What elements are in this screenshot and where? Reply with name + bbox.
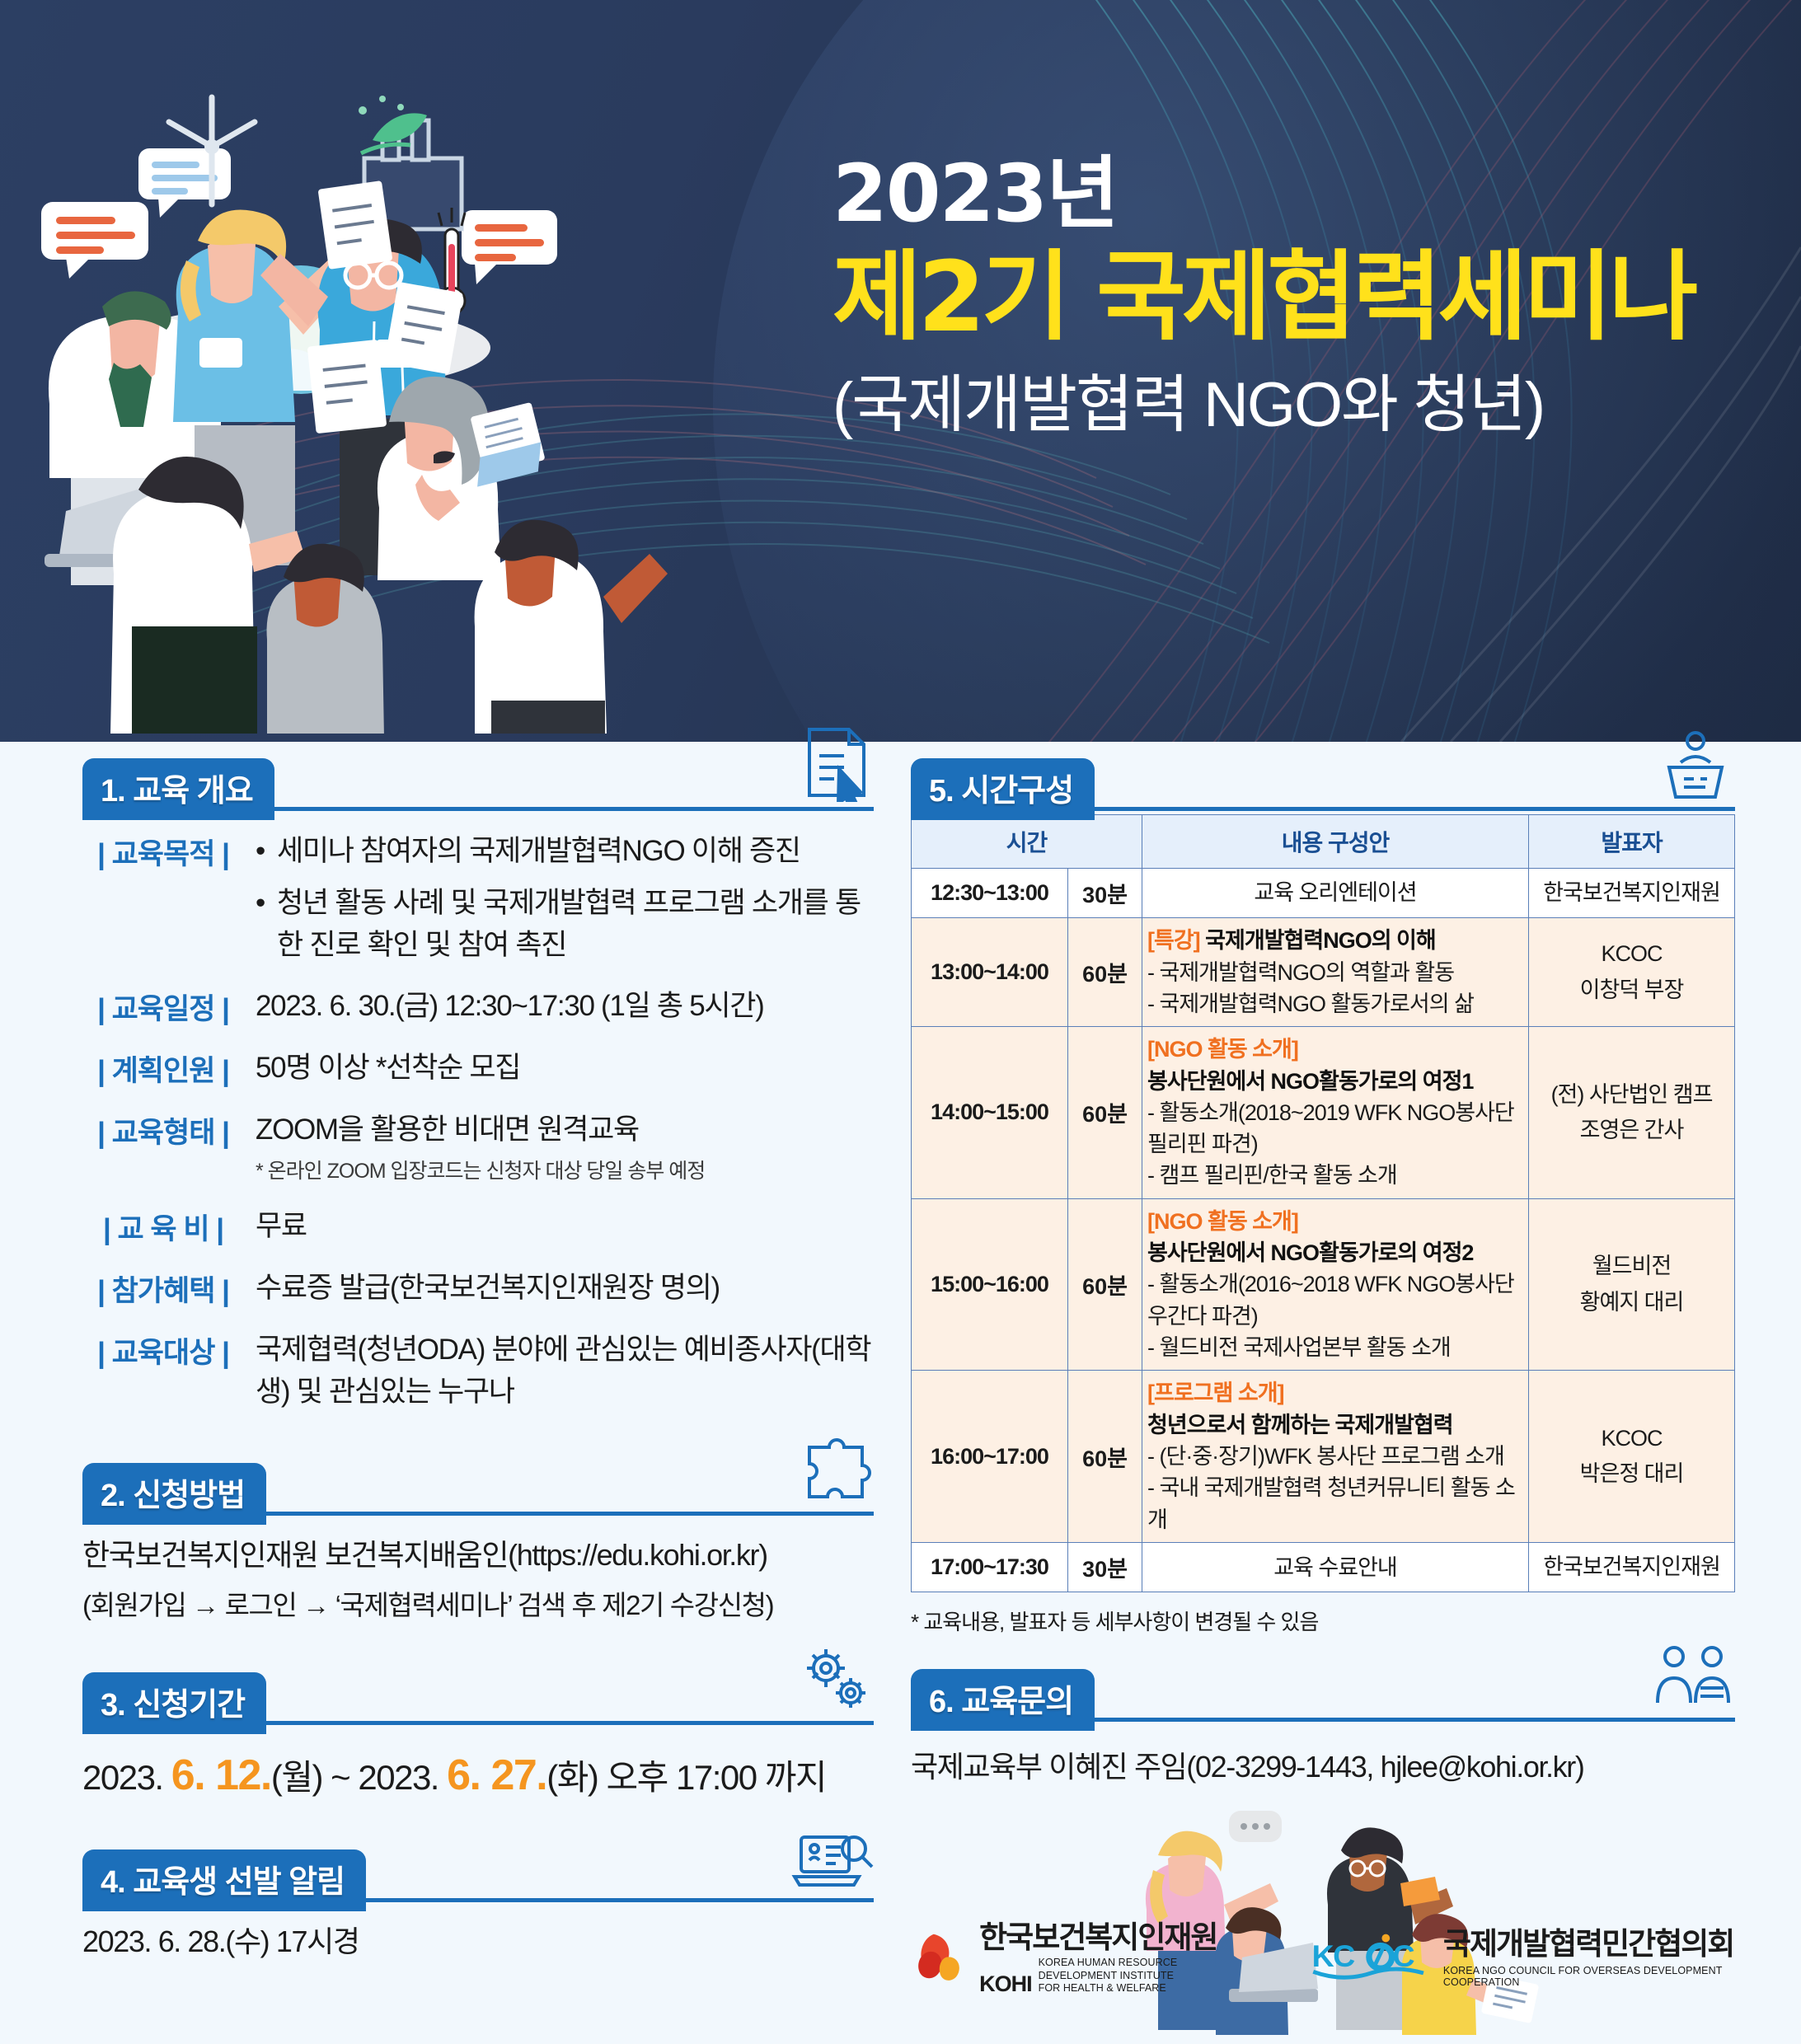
row-0-content: 교육 오리엔테이션 <box>1142 869 1529 918</box>
section-4-title: 교육생 선발 알림 <box>133 1865 345 1900</box>
row-2-tag: [NGO 활동 소개] <box>1147 1034 1523 1065</box>
row-1-detail-2: - 국제개발협력NGO 활동가로서의 삶 <box>1147 988 1523 1020</box>
svg-text:KC: KC <box>1312 1939 1355 1973</box>
section-3-title: 신청기간 <box>133 1688 245 1723</box>
row-1-speaker: KCOC 이창덕 부장 <box>1529 918 1735 1027</box>
overview-format-note: * 온라인 ZOOM 입장코드는 신청자 대상 당일 송부 예정 <box>256 1156 874 1186</box>
row-0-duration: 30분 <box>1068 869 1142 918</box>
overview-label-target: | 교육대상 | <box>82 1329 244 1371</box>
row-2-detail-1: - 활동소개(2018~2019 WFK NGO봉사단 필리핀 파견) <box>1147 1097 1523 1160</box>
overview-format-value-text: ZOOM을 활용한 비대면 원격교육 <box>256 1109 874 1151</box>
hero-title: 제2기 국제협력세미나 <box>832 242 1764 351</box>
row-4-detail-2: - 국내 국제개발협력 청년커뮤니티 활동 소개 <box>1147 1472 1523 1535</box>
section-4-header: 4. 교육생 선발 알림 <box>82 1849 874 1902</box>
section-2-pill: 2. 신청방법 <box>82 1463 266 1525</box>
section-5-title: 시간구성 <box>961 774 1073 809</box>
overview-label-benefit: | 참가혜택 | <box>82 1268 244 1310</box>
section-4-pill: 4. 교육생 선발 알림 <box>82 1849 366 1911</box>
content-area: 1. 교육 개요 | 교육목적 | •세 <box>0 742 1801 2044</box>
bullet-dot: • <box>256 883 277 967</box>
row-3-content: [NGO 활동 소개] 봉사단원에서 NGO활동가로의 여정2 - 활동소개(2… <box>1142 1198 1529 1371</box>
row-5-duration: 30분 <box>1068 1543 1142 1592</box>
kcoc-mark-icon: KC C <box>1311 1925 1428 1991</box>
overview-label-schedule: | 교육일정 | <box>82 986 244 1028</box>
section-6-pill: 6. 교육문의 <box>911 1669 1095 1731</box>
overview-label-purpose-text: 교육목적 <box>112 838 215 870</box>
kohi-english: KOREA HUMAN RESOURCE DEVELOPMENT INSTITU… <box>1039 1957 1254 1995</box>
apply-method-line-2: (회원가입 → 로그인 → ‘국제협력세미나’ 검색 후 제2기 수강신청) <box>82 1583 874 1623</box>
section-6-number: 6. <box>929 1685 954 1719</box>
row-3-detail-2: - 월드비전 국제사업본부 활동 소개 <box>1147 1332 1523 1363</box>
overview-purpose-bullet-1: 세미나 참여자의 국제개발협력NGO 이해 증진 <box>277 831 800 873</box>
row-2-speaker: (전) 사단법인 캠프 조영은 간사 <box>1529 1027 1735 1199</box>
section-selection-notice: 4. 교육생 선발 알림 2023. <box>82 1849 874 1963</box>
row-1-inline-title: 국제개발협력NGO의 이해 <box>1200 928 1436 953</box>
kohi-logo-text: 한국보건복지인재원 KOHI KOREA HUMAN RESOURCE DEVE… <box>979 1922 1253 1995</box>
footer-logos: 한국보건복지인재원 KOHI KOREA HUMAN RESOURCE DEVE… <box>911 1919 1735 1995</box>
row-4-content: [프로그램 소개] 청년으로서 함께하는 국제개발협력 - (단·중·장기)WF… <box>1142 1371 1529 1543</box>
section-1-title: 교육 개요 <box>133 774 252 809</box>
kcoc-logo-text: 국제개발협력민간협의회 KOREA NGO COUNCIL FOR OVERSE… <box>1443 1929 1735 1988</box>
presenter-podium-icon <box>1656 729 1735 806</box>
table-row: 12:30~13:00 30분 교육 오리엔테이션 한국보건복지인재원 <box>912 869 1735 918</box>
row-1-detail-1: - 국제개발협력NGO의 역할과 활동 <box>1147 957 1523 988</box>
section-2-title: 신청방법 <box>133 1479 245 1513</box>
table-row: 13:00~14:00 60분 [특강] 국제개발협력NGO의 이해 - 국제개… <box>912 918 1735 1027</box>
row-3-speaker-name: 황예지 대리 <box>1534 1285 1729 1320</box>
row-2-speaker-name: 조영은 간사 <box>1534 1113 1729 1148</box>
kcoc-korean-name: 국제개발협력민간협의회 <box>1443 1929 1735 1959</box>
overview-row-purpose: | 교육목적 | •세미나 참여자의 국제개발협력NGO 이해 증진 •청년 활… <box>82 831 874 966</box>
apply-period-prefix: 2023. <box>82 1758 171 1797</box>
hero-subtitle: (국제개발협력 NGO와 청년) <box>832 366 1764 444</box>
section-schedule: 5. 시간구성 시간 <box>911 758 1735 1636</box>
overview-label-schedule-text: 교육일정 <box>112 993 215 1025</box>
section-1-pill: 1. 교육 개요 <box>82 758 274 820</box>
laptop-search-icon <box>791 1827 874 1897</box>
table-row: 15:00~16:00 60분 [NGO 활동 소개] 봉사단원에서 NGO활동… <box>912 1198 1735 1371</box>
row-3-duration: 60분 <box>1068 1198 1142 1371</box>
overview-row-target: | 교육대상 | 국제협력(청년ODA) 분야에 관심있는 예비종사자(대학생)… <box>82 1329 874 1413</box>
section-5-header: 5. 시간구성 <box>911 758 1735 811</box>
section-6-header: 6. 교육문의 <box>911 1669 1735 1722</box>
schedule-header-row: 시간 내용 구성안 발표자 <box>912 815 1735 869</box>
hero-text-block: 2023년 제2기 국제협력세미나 (국제개발협력 NGO와 청년) <box>832 152 1764 444</box>
row-4-time: 16:00~17:00 <box>912 1371 1068 1543</box>
overview-row-benefit: | 참가혜택 | 수료증 발급(한국보건복지인재원장 명의) <box>82 1268 874 1310</box>
left-column: 1. 교육 개요 | 교육목적 | •세 <box>82 758 874 1975</box>
row-5-speaker: 한국보건복지인재원 <box>1529 1543 1735 1592</box>
overview-value-benefit: 수료증 발급(한국보건복지인재원장 명의) <box>244 1268 874 1310</box>
overview-value-schedule: 2023. 6. 30.(금) 12:30~17:30 (1일 총 5시간) <box>244 986 874 1028</box>
apply-period-middle: (월) ~ 2023. <box>271 1758 447 1797</box>
two-people-icon <box>1653 1642 1735 1717</box>
overview-label-fee: | 교 육 비 | <box>82 1206 244 1248</box>
apply-period-text: 2023. 6. 12.(월) ~ 2023. 6. 27.(화) 오후 17:… <box>82 1750 874 1800</box>
overview-value-capacity: 50명 이상 *선착순 모집 <box>244 1048 874 1090</box>
schedule-table-body: 12:30~13:00 30분 교육 오리엔테이션 한국보건복지인재원 13:0… <box>912 869 1735 1592</box>
document-cursor-icon <box>798 723 874 806</box>
section-2-number: 2. <box>101 1479 125 1513</box>
kohi-english-line-1: KOREA HUMAN RESOURCE DEVELOPMENT INSTITU… <box>1039 1957 1254 1982</box>
inquiry-text: 국제교육부 이혜진 주임(02-3299-1443, hjlee@kohi.or… <box>911 1743 1735 1786</box>
row-3-speaker-org: 월드비전 <box>1534 1249 1729 1284</box>
overview-label-format-text: 교육형태 <box>112 1117 215 1149</box>
gears-icon <box>795 1640 874 1720</box>
schedule-col-content: 내용 구성안 <box>1142 815 1529 869</box>
hero-banner: 2023년 제2기 국제협력세미나 (국제개발협력 NGO와 청년) <box>0 0 1801 742</box>
bullet-dot: • <box>256 831 277 873</box>
row-1-speaker-name: 이창덕 부장 <box>1534 973 1729 1008</box>
section-6-title: 교육문의 <box>961 1685 1073 1719</box>
schedule-table-head: 시간 내용 구성안 발표자 <box>912 815 1735 869</box>
row-2-subtitle: 봉사단원에서 NGO활동가로의 여정1 <box>1147 1066 1523 1097</box>
kohi-logo: 한국보건복지인재원 KOHI KOREA HUMAN RESOURCE DEVE… <box>911 1922 1253 1995</box>
right-column: 5. 시간구성 시간 <box>911 758 1735 2044</box>
section-1-number: 1. <box>101 774 125 809</box>
section-apply-period: 3. 신청기간 2023. 6. 12.(월) <box>82 1672 874 1800</box>
row-4-speaker-name: 박은정 대리 <box>1534 1456 1729 1492</box>
kcoc-english: KOREA NGO COUNCIL FOR OVERSEAS DEVELOPME… <box>1443 1965 1735 1988</box>
schedule-col-time: 시간 <box>912 815 1142 869</box>
overview-value-target: 국제협력(청년ODA) 분야에 관심있는 예비종사자(대학생) 및 관심있는 누… <box>244 1329 874 1413</box>
table-row: 16:00~17:00 60분 [프로그램 소개] 청년으로서 함께하는 국제개… <box>912 1371 1735 1543</box>
section-3-number: 3. <box>101 1688 125 1723</box>
section-1-header: 1. 교육 개요 <box>82 758 874 811</box>
overview-value-fee: 무료 <box>244 1206 874 1248</box>
row-4-subtitle: 청년으로서 함께하는 국제개발협력 <box>1147 1409 1523 1441</box>
row-3-speaker: 월드비전 황예지 대리 <box>1529 1198 1735 1371</box>
section-5-number: 5. <box>929 774 954 809</box>
kohi-abbr: KOHI <box>979 1973 1032 1995</box>
section-4-number: 4. <box>101 1865 125 1900</box>
apply-period-end-date: 6. 27. <box>447 1751 546 1799</box>
row-1-speaker-org: KCOC <box>1534 936 1729 972</box>
overview-label-benefit-text: 참가혜택 <box>112 1275 215 1307</box>
table-row: 17:00~17:30 30분 교육 수료안내 한국보건복지인재원 <box>912 1543 1735 1592</box>
table-row: 14:00~15:00 60분 [NGO 활동 소개] 봉사단원에서 NGO활동… <box>912 1027 1735 1199</box>
overview-value-purpose: •세미나 참여자의 국제개발협력NGO 이해 증진 •청년 활동 사례 및 국제… <box>244 831 874 966</box>
kohi-english-line-2: FOR HEALTH & WELFARE <box>1039 1982 1254 1995</box>
overview-label-target-text: 교육대상 <box>112 1337 215 1369</box>
kcoc-logo: KC C 국제개발협력민간협의회 KOREA NGO COUNCIL FOR O… <box>1311 1925 1735 1991</box>
row-1-tag: [특강] <box>1147 928 1200 953</box>
row-4-speaker-org: KCOC <box>1534 1421 1729 1456</box>
overview-label-capacity: | 계획인원 | <box>82 1048 244 1090</box>
row-3-subtitle: 봉사단원에서 NGO활동가로의 여정2 <box>1147 1237 1523 1268</box>
hero-people-illustration <box>16 49 824 734</box>
apply-period-suffix: (화) 오후 17:00 까지 <box>546 1758 826 1797</box>
row-0-speaker: 한국보건복지인재원 <box>1529 869 1735 918</box>
hero-year: 2023년 <box>832 152 1764 236</box>
poster-root: 2023년 제2기 국제협력세미나 (국제개발협력 NGO와 청년) 1. 교육… <box>0 0 1801 2044</box>
overview-row-schedule: | 교육일정 | 2023. 6. 30.(금) 12:30~17:30 (1일… <box>82 986 874 1028</box>
row-4-tag: [프로그램 소개] <box>1147 1377 1523 1409</box>
schedule-table: 시간 내용 구성안 발표자 12:30~13:00 30분 교육 오리엔테이션 … <box>911 814 1735 1592</box>
overview-row-format: | 교육형태 | ZOOM을 활용한 비대면 원격교육 * 온라인 ZOOM 입… <box>82 1109 874 1186</box>
row-1-time: 13:00~14:00 <box>912 918 1068 1027</box>
row-1-content: [특강] 국제개발협력NGO의 이해 - 국제개발협력NGO의 역할과 활동 -… <box>1142 918 1529 1027</box>
section-apply-method: 2. 신청방법 한국보건복지인재원 보건복지배움인(https://edu.ko… <box>82 1463 874 1623</box>
kohi-korean-name: 한국보건복지인재원 <box>979 1922 1253 1953</box>
overview-row-capacity: | 계획인원 | 50명 이상 *선착순 모집 <box>82 1048 874 1090</box>
overview-label-capacity-text: 계획인원 <box>112 1055 215 1087</box>
row-2-speaker-org: (전) 사단법인 캠프 <box>1534 1077 1729 1113</box>
row-1-duration: 60분 <box>1068 918 1142 1027</box>
row-0-time: 12:30~13:00 <box>912 869 1068 918</box>
section-education-overview: 1. 교육 개요 | 교육목적 | •세 <box>82 758 874 1413</box>
section-3-pill: 3. 신청기간 <box>82 1672 266 1734</box>
overview-label-format: | 교육형태 | <box>82 1109 244 1151</box>
overview-value-format: ZOOM을 활용한 비대면 원격교육 * 온라인 ZOOM 입장코드는 신청자 … <box>244 1109 874 1186</box>
kohi-mark-icon <box>911 1924 964 1993</box>
row-4-speaker: KCOC 박은정 대리 <box>1529 1371 1735 1543</box>
puzzle-piece-icon <box>798 1431 874 1511</box>
schedule-note: * 교육내용, 발표자 등 세부사항이 변경될 수 있음 <box>911 1606 1735 1636</box>
row-5-content: 교육 수료안내 <box>1142 1543 1529 1592</box>
selection-notice-text: 2023. 6. 28.(수) 17시경 <box>82 1920 874 1963</box>
row-3-tag: [NGO 활동 소개] <box>1147 1206 1523 1237</box>
row-2-detail-2: - 캠프 필리핀/한국 활동 소개 <box>1147 1160 1523 1191</box>
overview-label-purpose: | 교육목적 | <box>82 831 244 873</box>
section-3-header: 3. 신청기간 <box>82 1672 874 1725</box>
schedule-col-speaker: 발표자 <box>1529 815 1735 869</box>
row-4-duration: 60분 <box>1068 1371 1142 1543</box>
row-3-detail-1: - 활동소개(2016~2018 WFK NGO봉사단 우간다 파견) <box>1147 1268 1523 1332</box>
overview-row-fee: | 교 육 비 | 무료 <box>82 1206 874 1248</box>
row-2-duration: 60분 <box>1068 1027 1142 1199</box>
apply-period-start-date: 6. 12. <box>171 1751 271 1799</box>
row-2-time: 14:00~15:00 <box>912 1027 1068 1199</box>
row-5-time: 17:00~17:30 <box>912 1543 1068 1592</box>
section-5-pill: 5. 시간구성 <box>911 758 1095 820</box>
apply-method-line-1: 한국보건복지인재원 보건복지배움인(https://edu.kohi.or.kr… <box>82 1534 874 1577</box>
overview-purpose-bullet-2: 청년 활동 사례 및 국제개발협력 프로그램 소개를 통한 진로 확인 및 참여… <box>277 883 874 967</box>
row-2-content: [NGO 활동 소개] 봉사단원에서 NGO활동가로의 여정1 - 활동소개(2… <box>1142 1027 1529 1199</box>
overview-label-fee-text: 교 육 비 <box>117 1213 209 1245</box>
row-3-time: 15:00~16:00 <box>912 1198 1068 1371</box>
section-2-header: 2. 신청방법 <box>82 1463 874 1516</box>
row-4-detail-1: - (단·중·장기)WFK 봉사단 프로그램 소개 <box>1147 1441 1523 1472</box>
